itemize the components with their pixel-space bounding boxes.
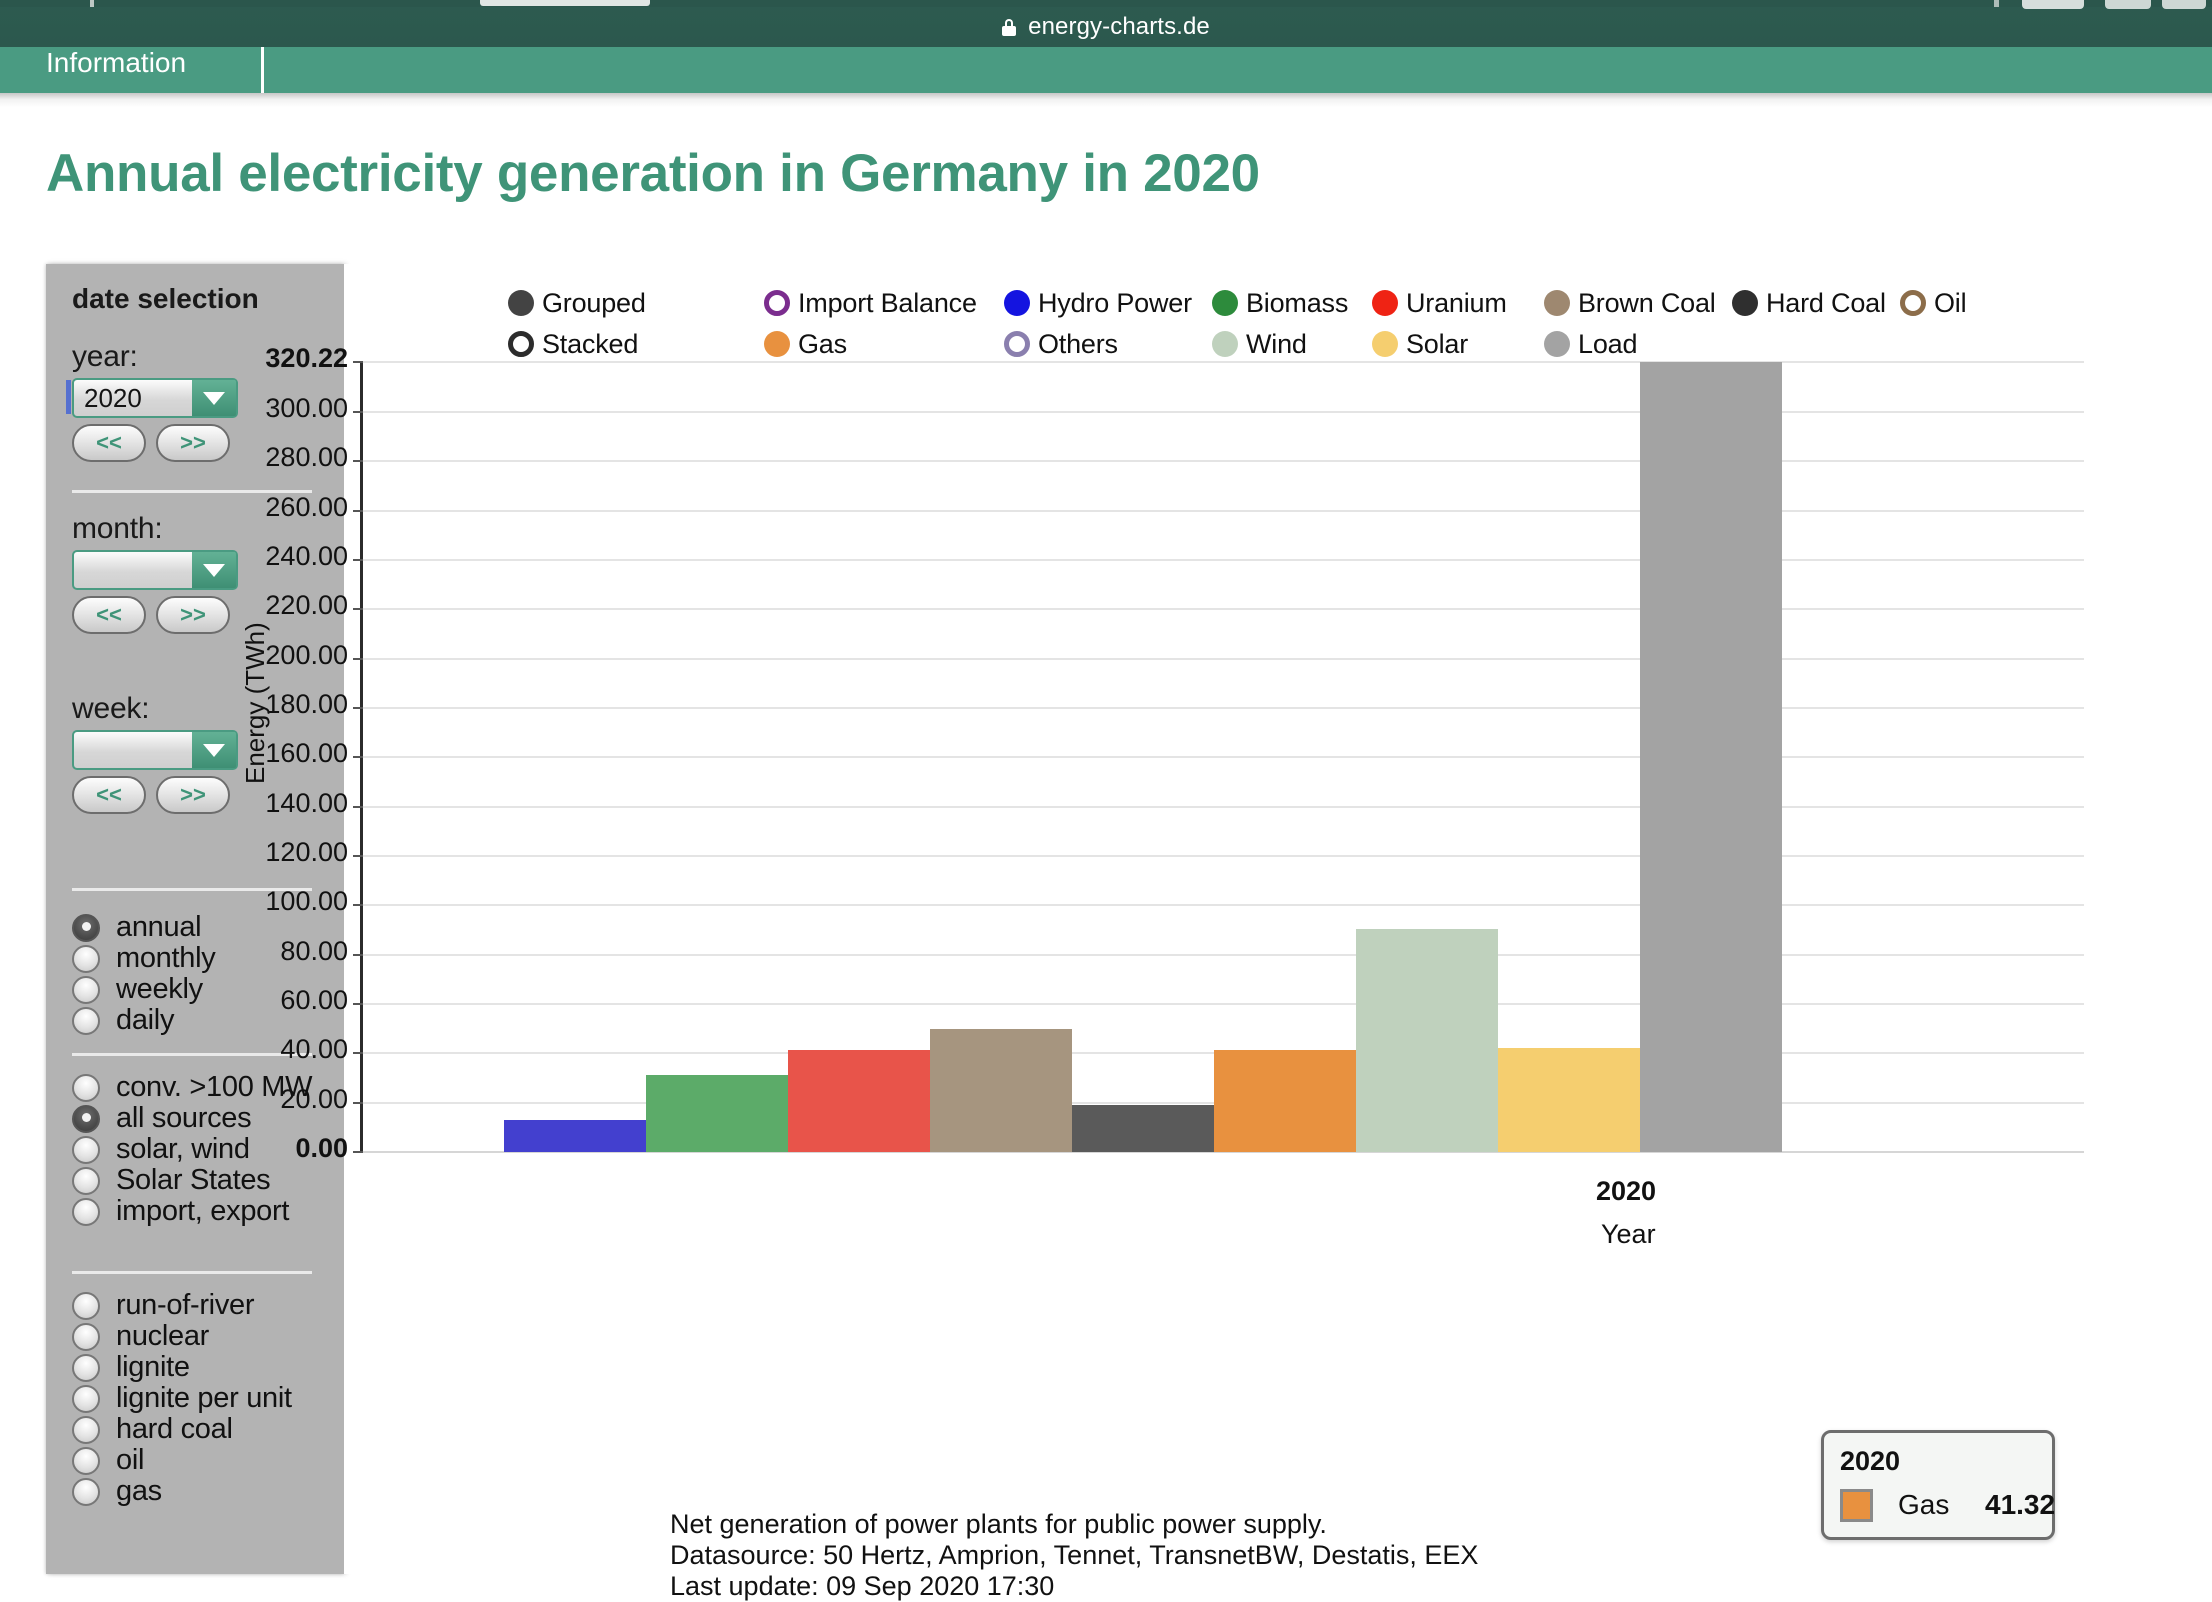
y-axis-tick: [353, 1003, 363, 1005]
year-next-button[interactable]: >>: [156, 424, 230, 462]
chevron-down-icon[interactable]: [192, 732, 236, 768]
radio-indicator[interactable]: [72, 914, 100, 942]
y-axis-tick: [353, 806, 363, 808]
y-axis-tick-label: 320.22: [265, 343, 348, 374]
y-axis-tick-label: 220.00: [265, 590, 348, 621]
chart-bar[interactable]: [646, 1075, 788, 1152]
interval-radio-group: annual monthly weekly daily: [72, 912, 215, 1036]
week-prev-button[interactable]: <<: [72, 776, 146, 814]
y-axis-tick: [353, 1151, 363, 1153]
y-axis-tick-label: 120.00: [265, 837, 348, 868]
radio-label: lignite: [116, 1351, 190, 1384]
radio-indicator[interactable]: [72, 1323, 100, 1351]
tab-edge-left: [90, 0, 94, 7]
address-bar-url: energy-charts.de: [1028, 13, 1210, 41]
gridline: [363, 756, 2084, 758]
x-axis-title: Year: [1601, 1219, 1656, 1250]
site-navigation-bar: [0, 47, 2212, 93]
tooltip-series-swatch: [1840, 1489, 1873, 1522]
plot-area[interactable]: 320.22300.00280.00260.00240.00220.00200.…: [360, 362, 2081, 1152]
gridline: [363, 658, 2084, 660]
radio-label: solar, wind: [116, 1133, 250, 1166]
y-axis-tick: [353, 756, 363, 758]
radio-option-nuclear[interactable]: nuclear: [72, 1321, 292, 1352]
chart-tooltip: 2020 Gas 41.32: [1821, 1430, 2055, 1540]
radio-option-import-export[interactable]: import, export: [72, 1196, 312, 1227]
radio-indicator[interactable]: [72, 1416, 100, 1444]
radio-label: oil: [116, 1444, 144, 1477]
nav-divider: [261, 47, 264, 93]
active-tab-sliver[interactable]: [480, 0, 650, 6]
y-axis-tick-label: 160.00: [265, 738, 348, 769]
chart-bar[interactable]: [1072, 1105, 1214, 1152]
footnote-line: Last update: 09 Sep 2020 17:30: [670, 1571, 1478, 1602]
radio-option-solar-wind[interactable]: solar, wind: [72, 1134, 312, 1165]
y-axis-tick: [353, 1052, 363, 1054]
year-prev-button[interactable]: <<: [72, 424, 146, 462]
radio-indicator[interactable]: [72, 976, 100, 1004]
y-axis-tick-label: 300.00: [265, 393, 348, 424]
y-axis-tick-label: 20.00: [280, 1084, 348, 1115]
tooltip-series-name: Gas: [1898, 1489, 1949, 1521]
y-axis-tick: [353, 510, 363, 512]
y-axis-tick-label: 280.00: [265, 442, 348, 473]
year-select-value: 2020: [84, 383, 142, 414]
radio-indicator[interactable]: [72, 1447, 100, 1475]
gridline: [363, 510, 2084, 512]
plot-wrapper: Energy (TWh) 320.22300.00280.00260.00240…: [344, 264, 2212, 1574]
gridline: [363, 904, 2084, 906]
radio-label: hard coal: [116, 1413, 233, 1446]
y-axis-tick-label: 240.00: [265, 541, 348, 572]
y-axis-tick: [353, 954, 363, 956]
week-next-button[interactable]: >>: [156, 776, 230, 814]
y-axis-tick-label: 180.00: [265, 689, 348, 720]
y-axis-tick: [353, 707, 363, 709]
chrome-drop-shadow: [0, 93, 2212, 107]
chart-footnotes: Net generation of power plants for publi…: [670, 1509, 1478, 1602]
gridline: [363, 1003, 2084, 1005]
radio-indicator[interactable]: [72, 1292, 100, 1320]
gridline: [363, 559, 2084, 561]
browser-chrome: energy-charts.de: [0, 0, 2212, 47]
radio-option-solar-states[interactable]: Solar States: [72, 1165, 312, 1196]
sidebar-heading: date selection: [72, 283, 259, 315]
radio-label: run-of-river: [116, 1289, 254, 1322]
footnote-line: Net generation of power plants for publi…: [670, 1509, 1478, 1540]
gridline: [363, 361, 2084, 363]
gridline: [363, 806, 2084, 808]
gridline: [363, 954, 2084, 956]
radio-indicator[interactable]: [72, 1007, 100, 1035]
footnote-line: Datasource: 50 Hertz, Amprion, Tennet, T…: [670, 1540, 1478, 1571]
address-bar[interactable]: energy-charts.de: [0, 7, 2212, 47]
y-axis-tick: [353, 855, 363, 857]
chart-bar[interactable]: [788, 1050, 930, 1152]
y-axis-tick: [353, 361, 363, 363]
month-label: month:: [72, 512, 238, 546]
radio-indicator[interactable]: [72, 1167, 100, 1195]
month-next-button[interactable]: >>: [156, 596, 230, 634]
radio-option-run-of-river[interactable]: run-of-river: [72, 1290, 292, 1321]
tab-strip: [0, 0, 2212, 7]
radio-option-hard-coal[interactable]: hard coal: [72, 1414, 292, 1445]
radio-option-lignite[interactable]: lignite: [72, 1352, 292, 1383]
radio-indicator[interactable]: [72, 1385, 100, 1413]
month-group: month: << >>: [72, 512, 238, 634]
sidebar-divider-4: [72, 1271, 312, 1274]
radio-label: all sources: [116, 1102, 251, 1135]
tooltip-title: 2020: [1840, 1446, 1900, 1477]
radio-indicator[interactable]: [72, 1478, 100, 1506]
x-tick-label: 2020: [1596, 1176, 1656, 1207]
y-axis-tick-label: 60.00: [280, 985, 348, 1016]
week-select[interactable]: [72, 730, 238, 770]
gridline: [363, 460, 2084, 462]
week-label: week:: [72, 692, 238, 726]
y-axis-tick: [353, 411, 363, 413]
radio-indicator[interactable]: [72, 1105, 100, 1133]
radio-label: daily: [116, 1004, 174, 1037]
radio-indicator[interactable]: [72, 945, 100, 973]
page-title: Annual electricity generation in Germany…: [46, 143, 1260, 204]
radio-option-conv-100mw[interactable]: conv. >100 MW: [72, 1072, 312, 1103]
y-axis-tick-label: 200.00: [265, 640, 348, 671]
month-prev-button[interactable]: <<: [72, 596, 146, 634]
y-axis-tick: [353, 608, 363, 610]
gridline: [363, 707, 2084, 709]
radio-label: monthly: [116, 942, 215, 975]
y-axis-tick-label: 260.00: [265, 492, 348, 523]
y-axis-tick: [353, 559, 363, 561]
y-axis-tick-label: 80.00: [280, 936, 348, 967]
radio-indicator[interactable]: [72, 1354, 100, 1382]
y-axis-tick-label: 140.00: [265, 788, 348, 819]
radio-label: gas: [116, 1475, 162, 1508]
radio-option-daily[interactable]: daily: [72, 1005, 215, 1036]
year-group: year: 2020 << >>: [72, 340, 238, 462]
y-axis-tick-label: 0.00: [295, 1133, 348, 1164]
chevron-down-icon[interactable]: [192, 380, 236, 416]
sidebar-divider-3: [72, 1053, 312, 1056]
y-axis-tick: [353, 1102, 363, 1104]
radio-option-annual[interactable]: annual: [72, 912, 215, 943]
source-radio-group: conv. >100 MW all sources solar, wind So…: [72, 1072, 312, 1227]
year-focus-caret: [66, 380, 71, 414]
chevron-down-icon[interactable]: [192, 552, 236, 588]
tooltip-series-value: 41.32: [1985, 1489, 2055, 1521]
y-axis-tick: [353, 658, 363, 660]
chart-bar[interactable]: [1356, 929, 1498, 1152]
year-label: year:: [72, 340, 238, 374]
radio-indicator[interactable]: [72, 1136, 100, 1164]
year-select[interactable]: 2020: [72, 378, 238, 418]
month-select[interactable]: [72, 550, 238, 590]
y-axis-tick: [353, 460, 363, 462]
chart-bar[interactable]: [504, 1120, 646, 1152]
chart-bar[interactable]: [1214, 1050, 1356, 1152]
radio-label: lignite per unit: [116, 1382, 292, 1415]
radio-indicator[interactable]: [72, 1198, 100, 1226]
radio-option-gas[interactable]: gas: [72, 1476, 292, 1507]
radio-option-oil[interactable]: oil: [72, 1445, 292, 1476]
radio-label: Solar States: [116, 1164, 270, 1197]
radio-option-weekly[interactable]: weekly: [72, 974, 215, 1005]
y-axis-tick-label: 100.00: [265, 886, 348, 917]
radio-option-lignite-per-unit[interactable]: lignite per unit: [72, 1383, 292, 1414]
gridline: [363, 608, 2084, 610]
gridline: [363, 855, 2084, 857]
radio-label: annual: [116, 911, 201, 944]
radio-label: nuclear: [116, 1320, 209, 1353]
chart-bar[interactable]: [1640, 362, 1782, 1152]
week-group: week: << >>: [72, 692, 238, 814]
radio-option-monthly[interactable]: monthly: [72, 943, 215, 974]
chart-bar[interactable]: [1498, 1048, 1640, 1152]
radio-label: import, export: [116, 1195, 289, 1228]
nav-item-information[interactable]: Information: [46, 40, 186, 86]
y-axis-tick: [353, 904, 363, 906]
toolbar-sliver: [1994, 0, 1999, 7]
chart-panel: Grouped Import Balance Hydro Power Bioma…: [344, 264, 2212, 1574]
lock-icon: [1002, 19, 1016, 36]
chart-bar[interactable]: [930, 1029, 1072, 1152]
radio-label: weekly: [116, 973, 203, 1006]
radio-option-all-sources[interactable]: all sources: [72, 1103, 312, 1134]
technology-radio-group: run-of-river nuclear lignite lignite per…: [72, 1290, 292, 1507]
radio-indicator[interactable]: [72, 1074, 100, 1102]
y-axis-tick-label: 40.00: [280, 1034, 348, 1065]
gridline: [363, 411, 2084, 413]
